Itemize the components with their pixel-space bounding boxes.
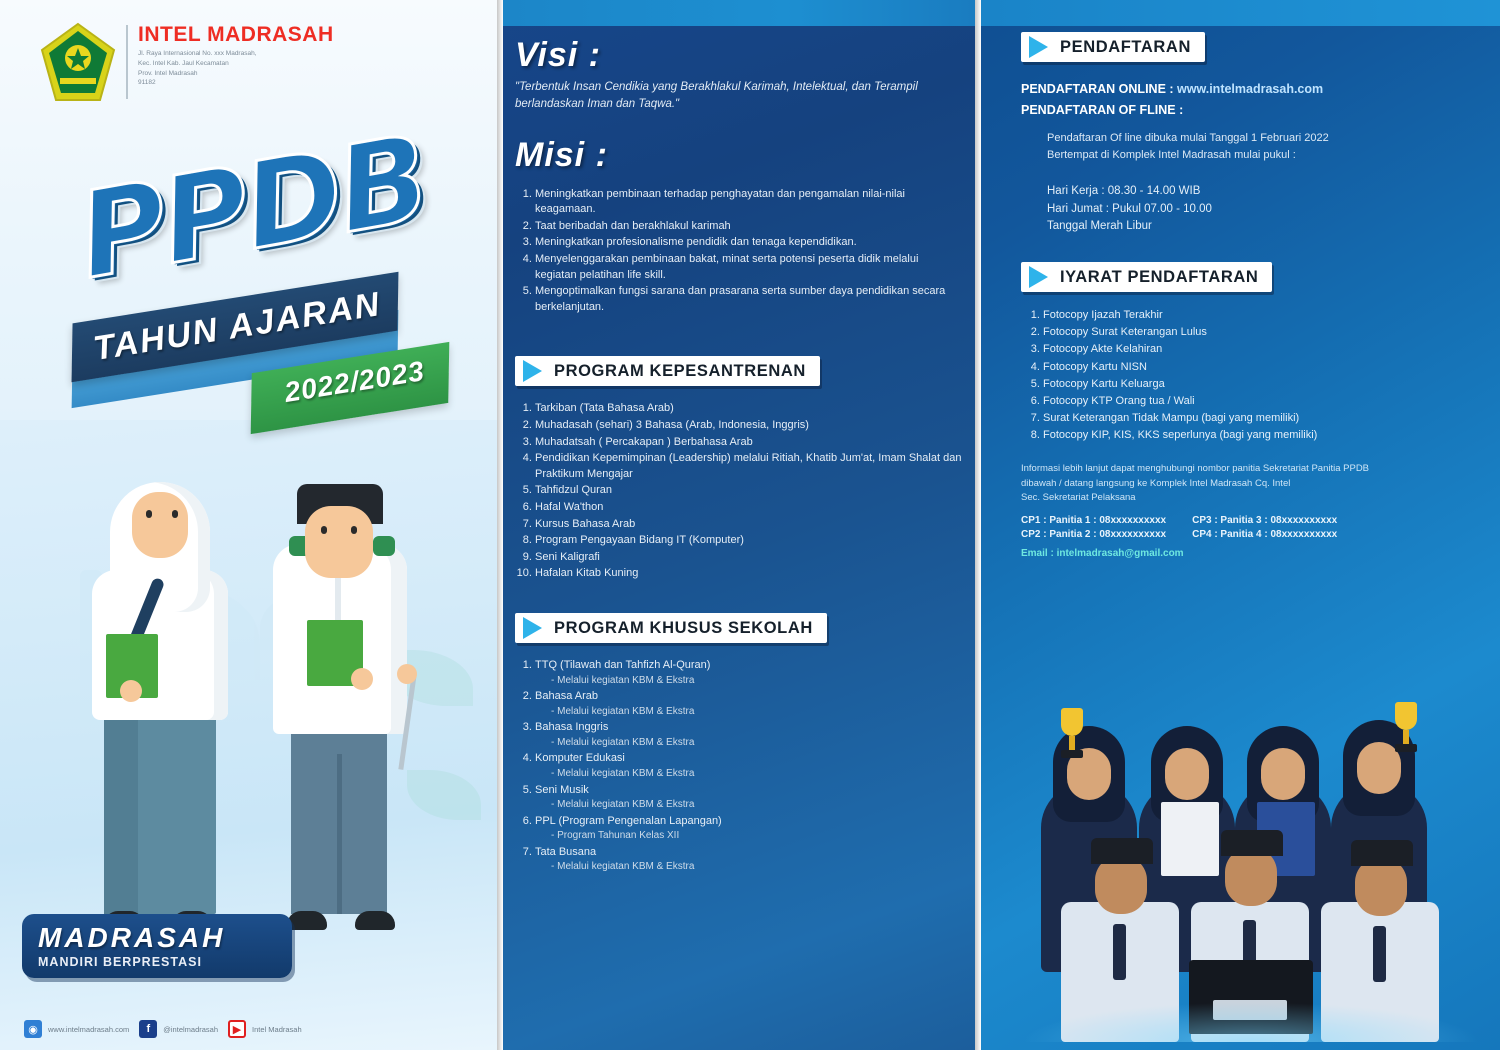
ppdb-text: PPDB [70,119,434,296]
list-item: Tata Busana Melalui kegiatan KBM & Ekstr… [535,845,965,875]
list-item: Surat Keterangan Tidak Mampu (bagi yang … [1043,410,1471,427]
trophy-icon [1059,708,1085,760]
list-item: Pendidikan Kepemimpinan (Leadership) mel… [535,451,965,482]
list-item: Program Pengayaan Bidang IT (Komputer) [535,533,965,549]
pendaftaran-title: PENDAFTARAN [1060,38,1191,57]
brochure-page: INTEL MADRASAH Jl. Raya Internasional No… [0,0,1500,1050]
online-registration-line: PENDAFTARAN ONLINE : www.intelmadrasah.c… [1021,79,1471,100]
globe-icon: ◉ [24,1020,42,1038]
item-sub: Melalui kegiatan KBM & Ekstra [535,767,965,782]
visi-heading: Visi : [515,36,967,75]
brand-name: INTEL MADRASAH [138,24,334,45]
photo-glow [1021,1002,1481,1042]
panel-top-band [503,0,975,26]
brand-header: INTEL MADRASAH Jl. Raya Internasional No… [40,22,334,104]
play-triangle-icon [523,360,542,382]
youtube-label: Intel Madrasah [252,1025,302,1034]
list-item: Meningkatkan profesionalisme pendidik da… [535,235,955,251]
note-line-1: Informasi lebih lanjut dapat menghubungi… [1021,462,1471,476]
motto-line-2: MANDIRI BERPRESTASI [38,955,292,969]
fold-divider-right [975,0,981,1050]
list-item: Hafal Wa'thon [535,500,965,516]
play-triangle-icon [523,617,542,639]
visi-text: "Terbentuk Insan Cendikia yang Berakhlak… [515,79,945,114]
program-kepesantrenan-title: PROGRAM KEPESANTRENAN [554,362,806,381]
item-sub: Melalui kegiatan KBM & Ekstra [535,674,965,689]
item-title: TTQ (Tilawah dan Tahfizh Al-Quran) [535,659,710,671]
list-item: Fotocopy Akte Kelahiran [1043,341,1471,358]
list-item: Fotocopy KIP, KIS, KKS seperlunya (bagi … [1043,427,1471,444]
fold-divider-left [497,0,503,1050]
list-item: Kursus Bahasa Arab [535,517,965,533]
list-item: Meningkatkan pembinaan terhadap penghaya… [535,187,955,218]
student-illustration [70,450,430,930]
item-sub: Melalui kegiatan KBM & Ekstra [535,736,965,751]
hours-line-1: Hari Kerja : 08.30 - 14.00 WIB [1021,183,1471,201]
contact-email[interactable]: Email : intelmadrasah@gmail.com [1021,548,1471,559]
contact-person-grid: CP1 : Panitia 1 : 08xxxxxxxxxx CP2 : Pan… [1021,515,1471,540]
list-item: Menyelenggarakan pembinaan bakat, minat … [535,252,955,283]
motto-badge: MADRASAH MANDIRI BERPRESTASI [22,914,292,978]
offline-line-1: Pendaftaran Of line dibuka mulai Tanggal… [1021,130,1471,148]
program-khusus-title: PROGRAM KHUSUS SEKOLAH [554,619,813,638]
item-title: Bahasa Arab [535,690,598,702]
online-label: PENDAFTARAN ONLINE : [1021,82,1174,96]
cover-panel: INTEL MADRASAH Jl. Raya Internasional No… [0,0,497,1050]
certificate [1161,802,1219,876]
facebook-icon: f [139,1020,157,1038]
kemenag-logo-icon [40,22,116,104]
list-item: Muhadatsah ( Percakapan ) Berbahasa Arab [535,435,965,451]
brand-address: Jl. Raya Internasional No. xxx Madrasah,… [138,49,334,88]
registration-panel: PENDAFTARAN PENDAFTARAN ONLINE : www.int… [981,0,1500,1050]
contact-cp1: CP1 : Panitia 1 : 08xxxxxxxxxx [1021,515,1166,526]
offline-label: PENDAFTARAN OF FLINE : [1021,100,1471,121]
misi-list: Meningkatkan pembinaan terhadap penghaya… [515,187,955,316]
offline-line-2: Bertempat di Komplek Intel Madrasah mula… [1021,147,1471,165]
list-item: Bahasa Inggris Melalui kegiatan KBM & Ek… [535,720,965,750]
contact-cp4: CP4 : Panitia 4 : 08xxxxxxxxxx [1192,529,1337,540]
contact-column-right: CP3 : Panitia 3 : 08xxxxxxxxxx CP4 : Pan… [1192,515,1337,540]
play-triangle-icon [1029,266,1048,288]
social-item-website[interactable]: ◉ www.intelmadrasah.com [24,1020,129,1038]
list-item: Tarkiban (Tata Bahasa Arab) [535,401,965,417]
contact-cp2: CP2 : Panitia 2 : 08xxxxxxxxxx [1021,529,1166,540]
syarat-header: IYARAT PENDAFTARAN [1021,262,1272,292]
item-title: PPL (Program Pengenalan Lapangan) [535,815,722,827]
panel-top-band [981,0,1500,26]
facebook-label: @intelmadrasah [163,1025,218,1034]
list-item: Fotocopy Kartu NISN [1043,359,1471,376]
social-item-facebook[interactable]: f @intelmadrasah [139,1020,218,1038]
program-kepesantrenan-header: PROGRAM KEPESANTRENAN [515,356,820,386]
social-item-youtube[interactable]: ▶ Intel Madrasah [228,1020,302,1038]
contact-cp3: CP3 : Panitia 3 : 08xxxxxxxxxx [1192,515,1337,526]
list-item: Komputer Edukasi Melalui kegiatan KBM & … [535,751,965,781]
online-url[interactable]: www.intelmadrasah.com [1177,82,1323,96]
vision-mission-panel: Visi : "Terbentuk Insan Cendikia yang Be… [503,0,975,1050]
hours-line-3: Tanggal Merah Libur [1021,218,1471,236]
list-item: Fotocopy Surat Keterangan Lulus [1043,324,1471,341]
list-item: TTQ (Tilawah dan Tahfizh Al-Quran) Melal… [535,658,965,688]
program-khusus-header: PROGRAM KHUSUS SEKOLAH [515,613,827,643]
program-khusus-list: TTQ (Tilawah dan Tahfizh Al-Quran) Melal… [515,658,965,875]
website-label: www.intelmadrasah.com [48,1025,129,1034]
item-title: Tata Busana [535,846,596,858]
hours-line-2: Hari Jumat : Pukul 07.00 - 10.00 [1021,201,1471,219]
note-line-3: Sec. Sekretariat Pelaksana [1021,491,1471,505]
list-item: Bahasa Arab Melalui kegiatan KBM & Ekstr… [535,689,965,719]
list-item: PPL (Program Pengenalan Lapangan) Progra… [535,814,965,844]
male-student-figure [255,460,430,930]
social-footer: ◉ www.intelmadrasah.com f @intelmadrasah… [24,1020,302,1038]
youtube-icon: ▶ [228,1020,246,1038]
misi-heading: Misi : [515,136,967,175]
item-title: Komputer Edukasi [535,752,625,764]
ppdb-logotype: PPDB TAHUN AJARAN 2022/2023 [58,130,458,410]
header-divider [126,25,128,99]
list-item: Fotocopy KTP Orang tua / Wali [1043,393,1471,410]
note-line-2: dibawah / datang langsung ke Komplek Int… [1021,477,1471,491]
motto-line-1: MADRASAH [38,924,292,952]
item-title: Bahasa Inggris [535,721,608,733]
program-kepesantrenan-list: Tarkiban (Tata Bahasa Arab) Muhadasah (s… [515,401,965,582]
play-triangle-icon [1029,36,1048,58]
item-title: Seni Musik [535,784,589,796]
contact-column-left: CP1 : Panitia 1 : 08xxxxxxxxxx CP2 : Pan… [1021,515,1166,540]
item-sub: Melalui kegiatan KBM & Ekstra [535,705,965,720]
list-item: Seni Musik Melalui kegiatan KBM & Ekstra [535,783,965,813]
female-student-figure [80,475,240,930]
list-item: Muhadasah (sehari) 3 Bahasa (Arab, Indon… [535,418,965,434]
syarat-list: Fotocopy Ijazah Terakhir Fotocopy Surat … [1021,307,1471,444]
trophy-icon [1393,702,1419,754]
student-group-photo [1021,622,1481,1042]
list-item: Tahfidzul Quran [535,483,965,499]
pendaftaran-header: PENDAFTARAN [1021,32,1205,62]
list-item: Mengoptimalkan fungsi sarana dan prasara… [535,284,955,315]
list-item: Taat beribadah dan berakhlakul karimah [535,219,955,235]
list-item: Fotocopy Ijazah Terakhir [1043,307,1471,324]
item-sub: Melalui kegiatan KBM & Ekstra [535,798,965,813]
syarat-title: IYARAT PENDAFTARAN [1060,268,1258,287]
list-item: Hafalan Kitab Kuning [535,566,965,582]
list-item: Fotocopy Kartu Keluarga [1043,376,1471,393]
item-sub: Melalui kegiatan KBM & Ekstra [535,860,965,875]
item-sub: Program Tahunan Kelas XII [535,829,965,844]
list-item: Seni Kaligrafi [535,550,965,566]
